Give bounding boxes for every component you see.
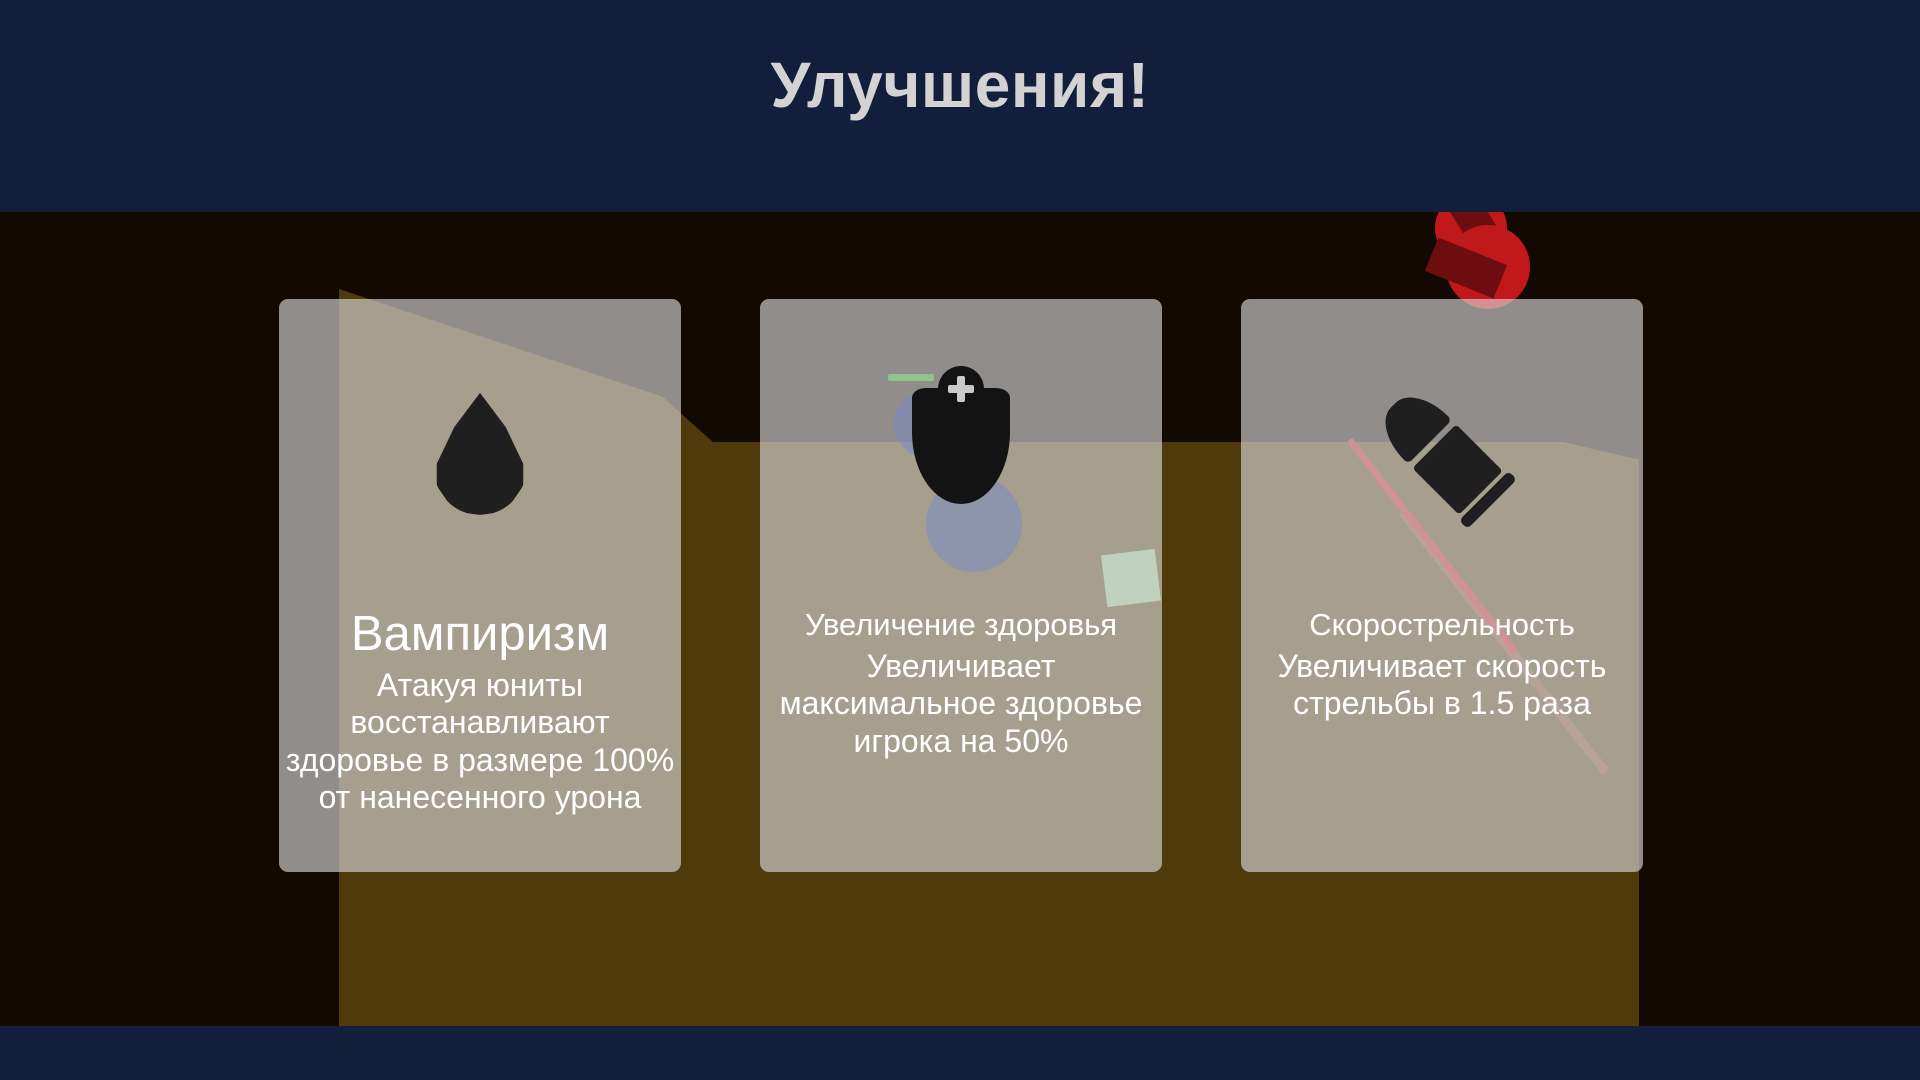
game-screen: Улучшения! Вампиризм Атакуя юниты восста… (0, 0, 1920, 1080)
upgrade-card-max-health[interactable]: Увеличение здоровья Увеличивает максимал… (760, 299, 1162, 872)
upgrade-card-fire-rate[interactable]: Скорострельность Увеличивает скорость ст… (1241, 299, 1643, 872)
card-text-block: Скорострельность Увеличивает скорость ст… (1241, 609, 1643, 733)
footer-bar (0, 1026, 1920, 1080)
upgrade-description: Увеличивает скорость стрельбы в 1.5 раза (1245, 648, 1639, 723)
card-icon-slot (1241, 299, 1643, 609)
page-title: Улучшения! (0, 48, 1920, 122)
upgrade-title: Увеличение здоровья (764, 609, 1158, 642)
player-healthbar (888, 374, 934, 381)
card-text-block: Вампиризм Атакуя юниты восстанавливают з… (279, 609, 681, 827)
upgrade-card-vampirism[interactable]: Вампиризм Атакуя юниты восстанавливают з… (279, 299, 681, 872)
plus-icon (938, 366, 984, 412)
card-icon-slot (279, 299, 681, 609)
upgrade-title: Вампиризм (283, 609, 677, 661)
upgrade-description: Увеличивает максимальное здоровье игрока… (764, 648, 1158, 760)
blood-droplet-icon (434, 393, 526, 515)
card-text-block: Увеличение здоровья Увеличивает максимал… (760, 609, 1162, 770)
card-icon-slot (760, 299, 1162, 609)
upgrade-description: Атакуя юниты восстанавливают здоровье в … (283, 667, 677, 817)
bullet-icon (1336, 348, 1548, 560)
shield-heal-icon (886, 364, 1036, 544)
upgrade-title: Скорострельность (1245, 609, 1639, 642)
